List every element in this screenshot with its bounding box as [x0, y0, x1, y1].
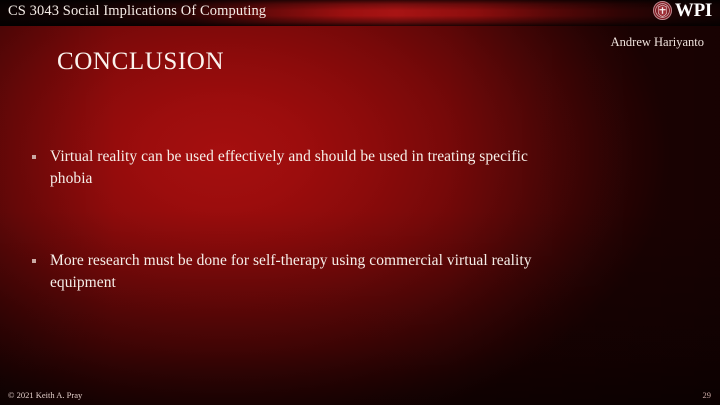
slide-header-band: CS 3043 Social Implications Of Computing…	[0, 0, 720, 26]
list-item: Virtual reality can be used effectively …	[32, 146, 532, 190]
copyright-notice: © 2021 Keith A. Pray	[8, 390, 82, 400]
bullet-point-icon	[32, 155, 36, 159]
bullet-point-icon	[32, 259, 36, 263]
presentation-slide: CS 3043 Social Implications Of Computing…	[0, 0, 720, 405]
course-title: CS 3043 Social Implications Of Computing	[8, 3, 266, 20]
author-name: Andrew Hariyanto	[611, 35, 704, 50]
bullet-text: Virtual reality can be used effectively …	[50, 146, 532, 190]
list-item: More research must be done for self-ther…	[32, 250, 532, 294]
bullet-text: More research must be done for self-ther…	[50, 250, 532, 294]
bullet-list: Virtual reality can be used effectively …	[32, 146, 532, 294]
wpi-wordmark: WPI	[675, 1, 712, 20]
wpi-seal-icon	[653, 1, 672, 20]
slide-title: CONCLUSION	[57, 48, 224, 76]
page-number: 29	[703, 390, 712, 400]
wpi-logo: WPI	[653, 1, 712, 20]
